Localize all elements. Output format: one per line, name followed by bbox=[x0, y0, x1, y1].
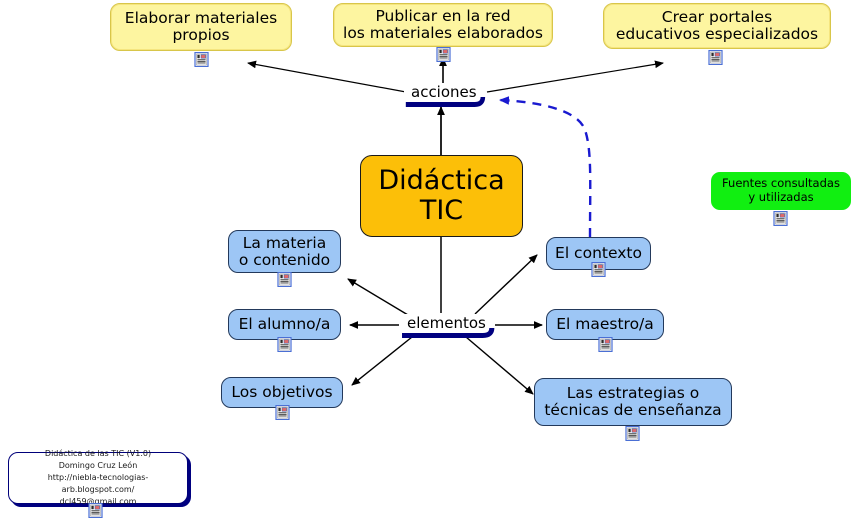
action-label-portales: Crear portales educativos especializados bbox=[616, 9, 818, 42]
edge-elementos-estrategias bbox=[466, 337, 533, 394]
note-document-icon[interactable] bbox=[88, 503, 103, 518]
center-node-didactica-tic[interactable]: Didáctica TIC bbox=[360, 155, 523, 237]
element-label-alumno: El alumno/a bbox=[239, 316, 331, 333]
credits-line-title: Didáctica de las TIC (V1.0) bbox=[45, 448, 151, 460]
edge-acciones-portales bbox=[487, 63, 663, 92]
element-node-maestro[interactable]: El maestro/a bbox=[546, 309, 664, 340]
sources-label: Fuentes consultadas y utilizadas bbox=[722, 177, 840, 205]
note-document-icon[interactable] bbox=[598, 337, 613, 352]
note-document-icon[interactable] bbox=[625, 426, 640, 441]
edge-acciones-elaborar bbox=[248, 63, 406, 92]
note-document-icon[interactable] bbox=[275, 405, 290, 420]
action-label-publicar: Publicar en la red los materiales elabor… bbox=[343, 8, 543, 41]
connector-label-acciones[interactable]: acciones bbox=[404, 83, 486, 102]
element-node-alumno[interactable]: El alumno/a bbox=[228, 309, 341, 340]
element-label-estrategias: Las estrategias o técnicas de enseñanza bbox=[544, 385, 721, 418]
connector-text-elementos: elementos bbox=[407, 314, 486, 332]
element-node-estrategias[interactable]: Las estrategias o técnicas de enseñanza bbox=[534, 378, 732, 426]
note-document-icon[interactable] bbox=[277, 272, 292, 287]
center-node-label: Didáctica TIC bbox=[378, 166, 504, 226]
note-document-icon[interactable] bbox=[277, 337, 292, 352]
credits-line-author: Domingo Cruz León bbox=[59, 460, 138, 472]
element-node-materia[interactable]: La materia o contenido bbox=[228, 230, 341, 273]
edge-layer bbox=[0, 0, 853, 523]
element-label-materia: La materia o contenido bbox=[239, 235, 330, 268]
note-document-icon[interactable] bbox=[591, 262, 606, 277]
edge-elementos-materia bbox=[348, 279, 408, 315]
edge-elementos-objetivos bbox=[352, 337, 412, 385]
note-document-icon[interactable] bbox=[773, 211, 788, 226]
action-node-portales[interactable]: Crear portales educativos especializados bbox=[603, 3, 831, 49]
connector-text-acciones: acciones bbox=[411, 83, 477, 101]
edge-elementos-contexto bbox=[475, 255, 537, 314]
action-label-elaborar: Elaborar materiales propios bbox=[125, 10, 277, 43]
sources-node[interactable]: Fuentes consultadas y utilizadas bbox=[711, 172, 851, 210]
element-node-objetivos[interactable]: Los objetivos bbox=[221, 377, 343, 408]
action-node-elaborar[interactable]: Elaborar materiales propios bbox=[110, 3, 292, 51]
connector-label-elementos[interactable]: elementos bbox=[400, 314, 495, 333]
note-document-icon[interactable] bbox=[708, 50, 723, 65]
note-document-icon[interactable] bbox=[194, 52, 209, 67]
action-node-publicar[interactable]: Publicar en la red los materiales elabor… bbox=[333, 3, 553, 47]
credits-box[interactable]: Didáctica de las TIC (V1.0) Domingo Cruz… bbox=[8, 452, 188, 504]
element-label-contexto: El contexto bbox=[555, 245, 642, 262]
credits-line-url: http://niebla-tecnologias-arb.blogspot.c… bbox=[15, 472, 181, 496]
note-document-icon[interactable] bbox=[436, 47, 451, 62]
element-label-objetivos: Los objetivos bbox=[231, 384, 332, 401]
concept-map-canvas: Elaborar materiales propios Publicar en … bbox=[0, 0, 853, 523]
element-label-maestro: El maestro/a bbox=[556, 316, 654, 333]
